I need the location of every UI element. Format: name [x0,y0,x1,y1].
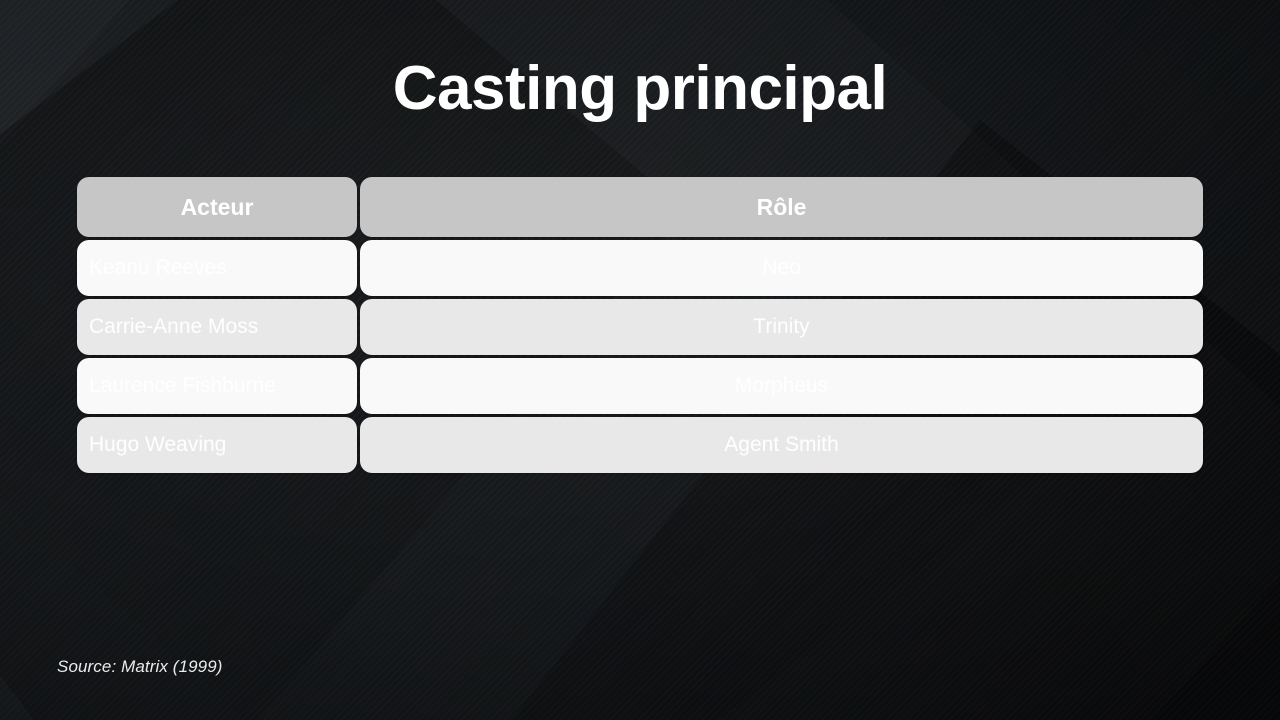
cell-role: Trinity [360,299,1203,355]
cell-acteur: Keanu Reeves [77,240,357,296]
cell-role: Morpheus [360,358,1203,414]
table-row[interactable]: Laurence Fishburne Morpheus [77,358,1203,414]
source-note: Source: Matrix (1999) [57,657,223,677]
cell-acteur: Laurence Fishburne [77,358,357,414]
slide-canvas: Casting principal Acteur Rôle Keanu Reev… [0,0,1280,720]
table-header-row: Acteur Rôle [77,177,1203,237]
cell-acteur: Hugo Weaving [77,417,357,473]
cell-role: Neo [360,240,1203,296]
table-row[interactable]: Hugo Weaving Agent Smith [77,417,1203,473]
cell-role: Agent Smith [360,417,1203,473]
slide-title: Casting principal [0,56,1280,121]
column-header-role[interactable]: Rôle [360,177,1203,237]
cell-acteur: Carrie-Anne Moss [77,299,357,355]
column-header-acteur[interactable]: Acteur [77,177,357,237]
casting-table: Acteur Rôle Keanu Reeves Neo Carrie-Anne… [77,177,1203,476]
table-row[interactable]: Carrie-Anne Moss Trinity [77,299,1203,355]
table-row[interactable]: Keanu Reeves Neo [77,240,1203,296]
